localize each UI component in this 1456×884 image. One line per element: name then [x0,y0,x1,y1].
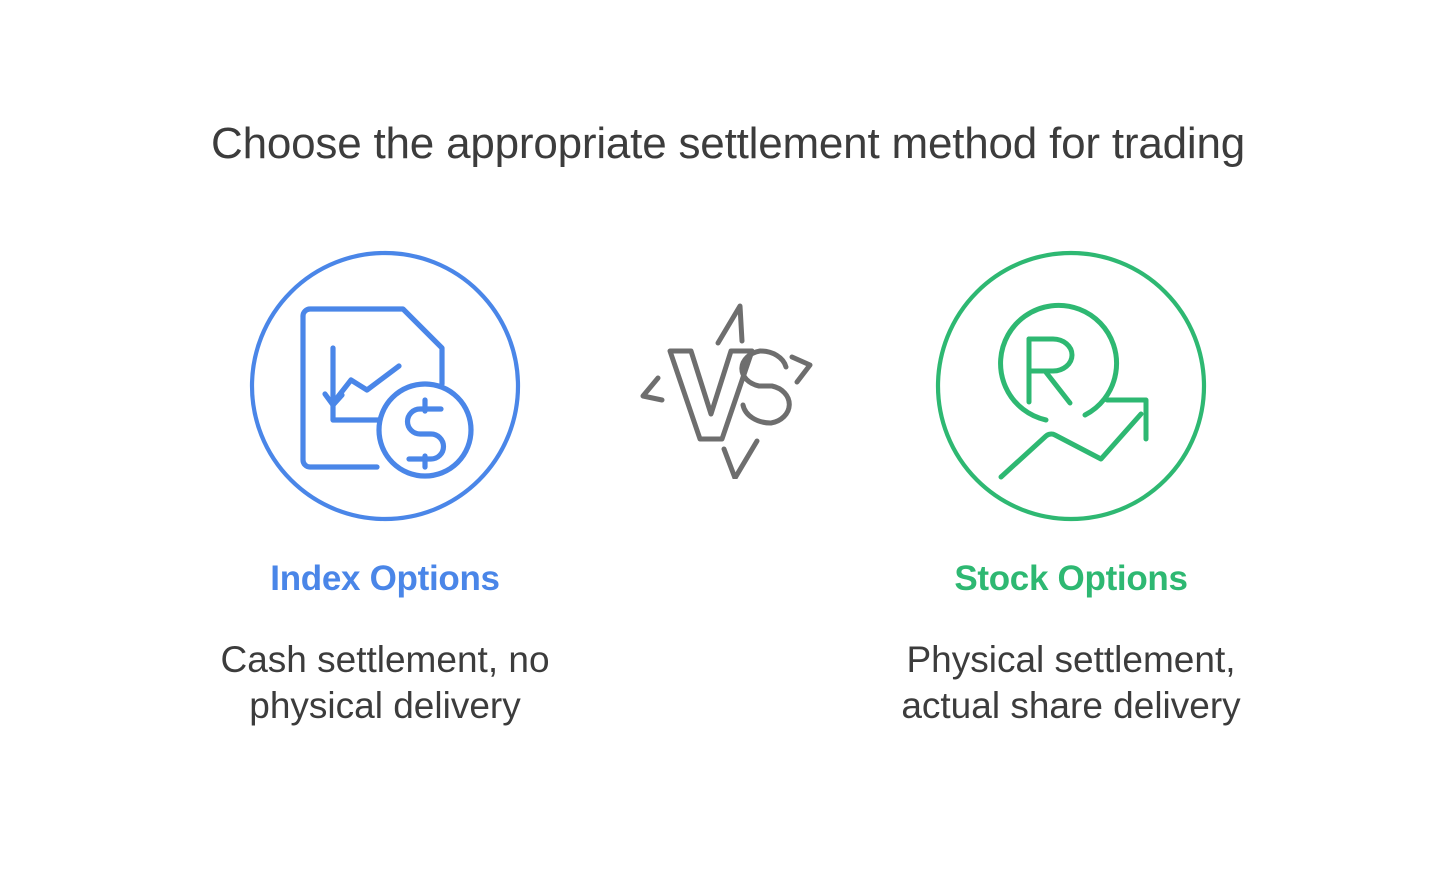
vs-burst-icon [640,293,816,479]
page-title: Choose the appropriate settlement method… [0,118,1456,170]
comparison-card-stock-options: Stock Options Physical settlement, actua… [836,248,1306,730]
rupee-growth-arrow-icon [933,248,1209,524]
comparison-card-index-options: Index Options Cash settlement, no physic… [150,248,620,730]
index-options-description: Cash settlement, no physical delivery [170,637,600,730]
document-chart-dollar-icon [247,248,523,524]
stock-options-description: Physical settlement, actual share delive… [856,637,1286,730]
versus-divider [628,248,828,524]
index-options-icon-wrap [247,248,523,524]
stock-options-title: Stock Options [954,560,1187,599]
index-options-title: Index Options [270,560,499,599]
stock-options-icon-wrap [933,248,1209,524]
comparison-row: Index Options Cash settlement, no physic… [0,248,1456,788]
slide-canvas: Choose the appropriate settlement method… [0,0,1456,884]
